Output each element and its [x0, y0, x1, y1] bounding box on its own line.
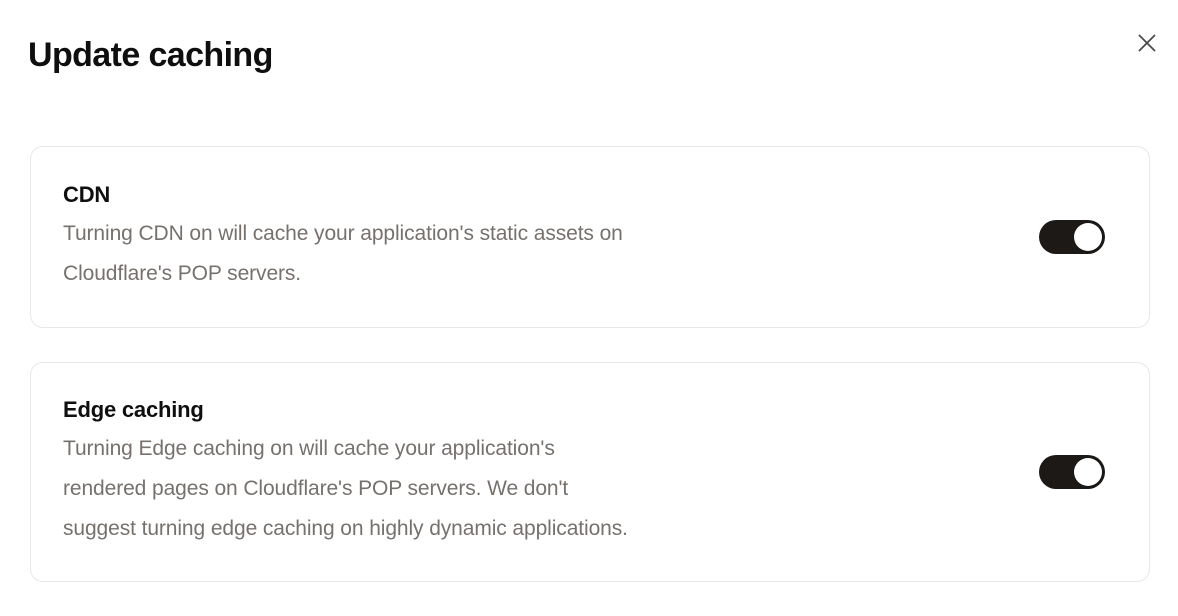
page-title: Update caching	[28, 33, 273, 77]
description-line: Turning CDN on will cache your applicati…	[63, 214, 623, 254]
setting-description-cdn: Turning CDN on will cache your applicati…	[63, 214, 623, 294]
settings-card-list: CDN Turning CDN on will cache your appli…	[30, 146, 1150, 616]
toggle-container-cdn	[1039, 220, 1125, 254]
close-icon	[1136, 32, 1158, 54]
toggle-container-edge-caching	[1039, 455, 1125, 489]
toggle-cdn[interactable]	[1039, 220, 1105, 254]
setting-card-text: Edge caching Turning Edge caching on wil…	[63, 395, 628, 549]
close-button[interactable]	[1128, 24, 1166, 62]
toggle-edge-caching[interactable]	[1039, 455, 1105, 489]
setting-card-cdn: CDN Turning CDN on will cache your appli…	[30, 146, 1150, 328]
description-line: Turning Edge caching on will cache your …	[63, 429, 628, 469]
setting-description-edge-caching: Turning Edge caching on will cache your …	[63, 429, 628, 549]
setting-card-edge-caching: Edge caching Turning Edge caching on wil…	[30, 362, 1150, 582]
modal-header: Update caching	[0, 0, 1178, 146]
setting-title-cdn: CDN	[63, 180, 623, 210]
setting-card-text: CDN Turning CDN on will cache your appli…	[63, 180, 623, 294]
toggle-knob	[1074, 458, 1102, 486]
description-line: Cloudflare's POP servers.	[63, 254, 623, 294]
description-line: rendered pages on Cloudflare's POP serve…	[63, 469, 628, 509]
description-line: suggest turning edge caching on highly d…	[63, 509, 628, 549]
toggle-knob	[1074, 223, 1102, 251]
setting-title-edge-caching: Edge caching	[63, 395, 628, 425]
